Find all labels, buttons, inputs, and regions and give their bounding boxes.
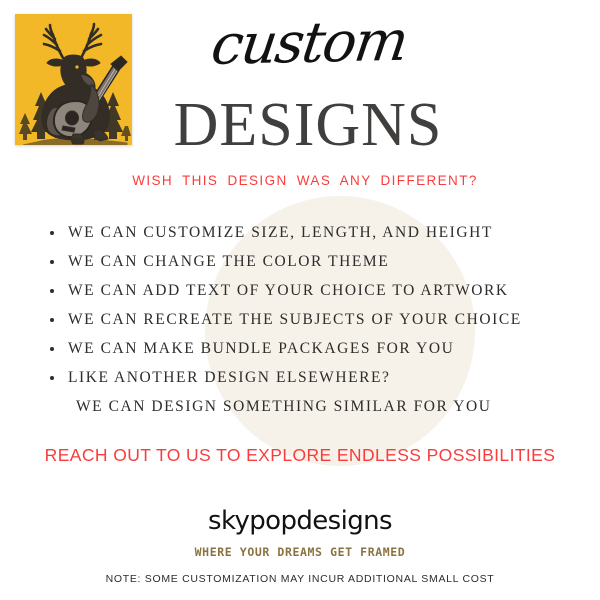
listing-image-canvas: custom DESIGNS WISH THIS DESIGN WAS ANY … — [0, 0, 600, 600]
list-item: WE CAN ADD TEXT OF YOUR CHOICE TO ARTWOR… — [44, 276, 589, 305]
product-thumbnail[interactable] — [15, 14, 132, 145]
list-item: WE CAN MAKE BUNDLE PACKAGES FOR YOU — [44, 334, 589, 363]
feature-list: WE CAN CUSTOMIZE SIZE, LENGTH, AND HEIGH… — [44, 218, 589, 421]
deer-guitar-icon — [15, 14, 132, 145]
footnote: NOTE: SOME CUSTOMIZATION MAY INCUR ADDIT… — [0, 574, 600, 585]
list-item: WE CAN CUSTOMIZE SIZE, LENGTH, AND HEIGH… — [44, 218, 589, 247]
list-item: LIKE ANOTHER DESIGN ELSEWHERE? — [44, 363, 589, 392]
list-item-continuation: WE CAN DESIGN SOMETHING SIMILAR FOR YOU — [44, 392, 589, 421]
brand-name: skypopdesigns — [0, 508, 600, 534]
list-item: WE CAN CHANGE THE COLOR THEME — [44, 247, 589, 276]
cta-text: REACH OUT TO US TO EXPLORE ENDLESS POSSI… — [0, 447, 600, 465]
subtitle-question: WISH THIS DESIGN WAS ANY DIFFERENT? — [0, 174, 600, 188]
list-item: WE CAN RECREATE THE SUBJECTS OF YOUR CHO… — [44, 305, 589, 334]
brand-tagline: WHERE YOUR DREAMS GET FRAMED — [0, 547, 600, 559]
